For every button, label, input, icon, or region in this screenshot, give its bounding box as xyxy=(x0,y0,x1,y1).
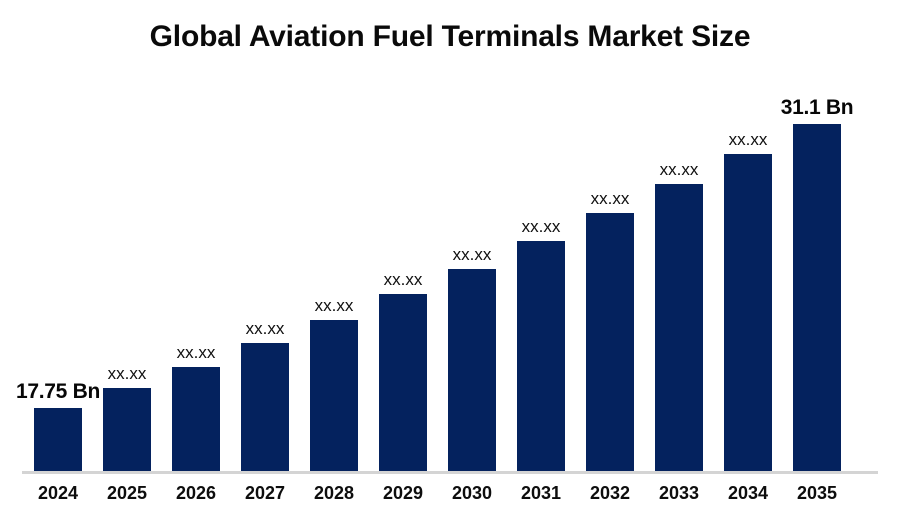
bar xyxy=(793,124,841,471)
bar-value-label: xx.xx xyxy=(151,343,241,363)
x-axis-tick-label: 2028 xyxy=(300,483,369,504)
bar xyxy=(655,184,703,471)
x-axis-tick-label: 2027 xyxy=(231,483,300,504)
bar-value-label: xx.xx xyxy=(220,319,310,339)
bar-value-label: xx.xx xyxy=(703,130,793,150)
x-axis-tick-label: 2031 xyxy=(507,483,576,504)
bar-value-label: 31.1 Bn xyxy=(752,96,882,120)
bar xyxy=(172,367,220,471)
bar-value-label: xx.xx xyxy=(427,245,517,265)
bar xyxy=(379,294,427,471)
x-axis-tick-label: 2030 xyxy=(438,483,507,504)
bar xyxy=(34,408,82,471)
bar xyxy=(517,241,565,471)
bar xyxy=(103,388,151,471)
x-axis-tick-label: 2024 xyxy=(24,483,93,504)
bar xyxy=(310,320,358,471)
x-axis-tick-label: 2026 xyxy=(162,483,231,504)
bar xyxy=(586,213,634,471)
bar xyxy=(724,154,772,471)
x-axis-tick-label: 2033 xyxy=(645,483,714,504)
bar xyxy=(241,343,289,471)
bar-value-label: xx.xx xyxy=(82,364,172,384)
bar-value-label: xx.xx xyxy=(358,270,448,290)
x-axis-tick-label: 2029 xyxy=(369,483,438,504)
bar-value-label: xx.xx xyxy=(565,189,655,209)
bar-value-label: xx.xx xyxy=(634,160,724,180)
x-axis-tick-label: 2025 xyxy=(93,483,162,504)
x-axis-tick-label: 2035 xyxy=(783,483,852,504)
x-axis-tick-label: 2034 xyxy=(714,483,783,504)
x-axis-line xyxy=(22,471,878,474)
bar-value-label: xx.xx xyxy=(289,296,379,316)
bar-value-label: xx.xx xyxy=(496,217,586,237)
bar xyxy=(448,269,496,471)
plot-area: 17.75 Bnxx.xxxx.xxxx.xxxx.xxxx.xxxx.xxxx… xyxy=(0,0,900,525)
x-axis-tick-label: 2032 xyxy=(576,483,645,504)
chart-canvas: Global Aviation Fuel Terminals Market Si… xyxy=(0,0,900,525)
